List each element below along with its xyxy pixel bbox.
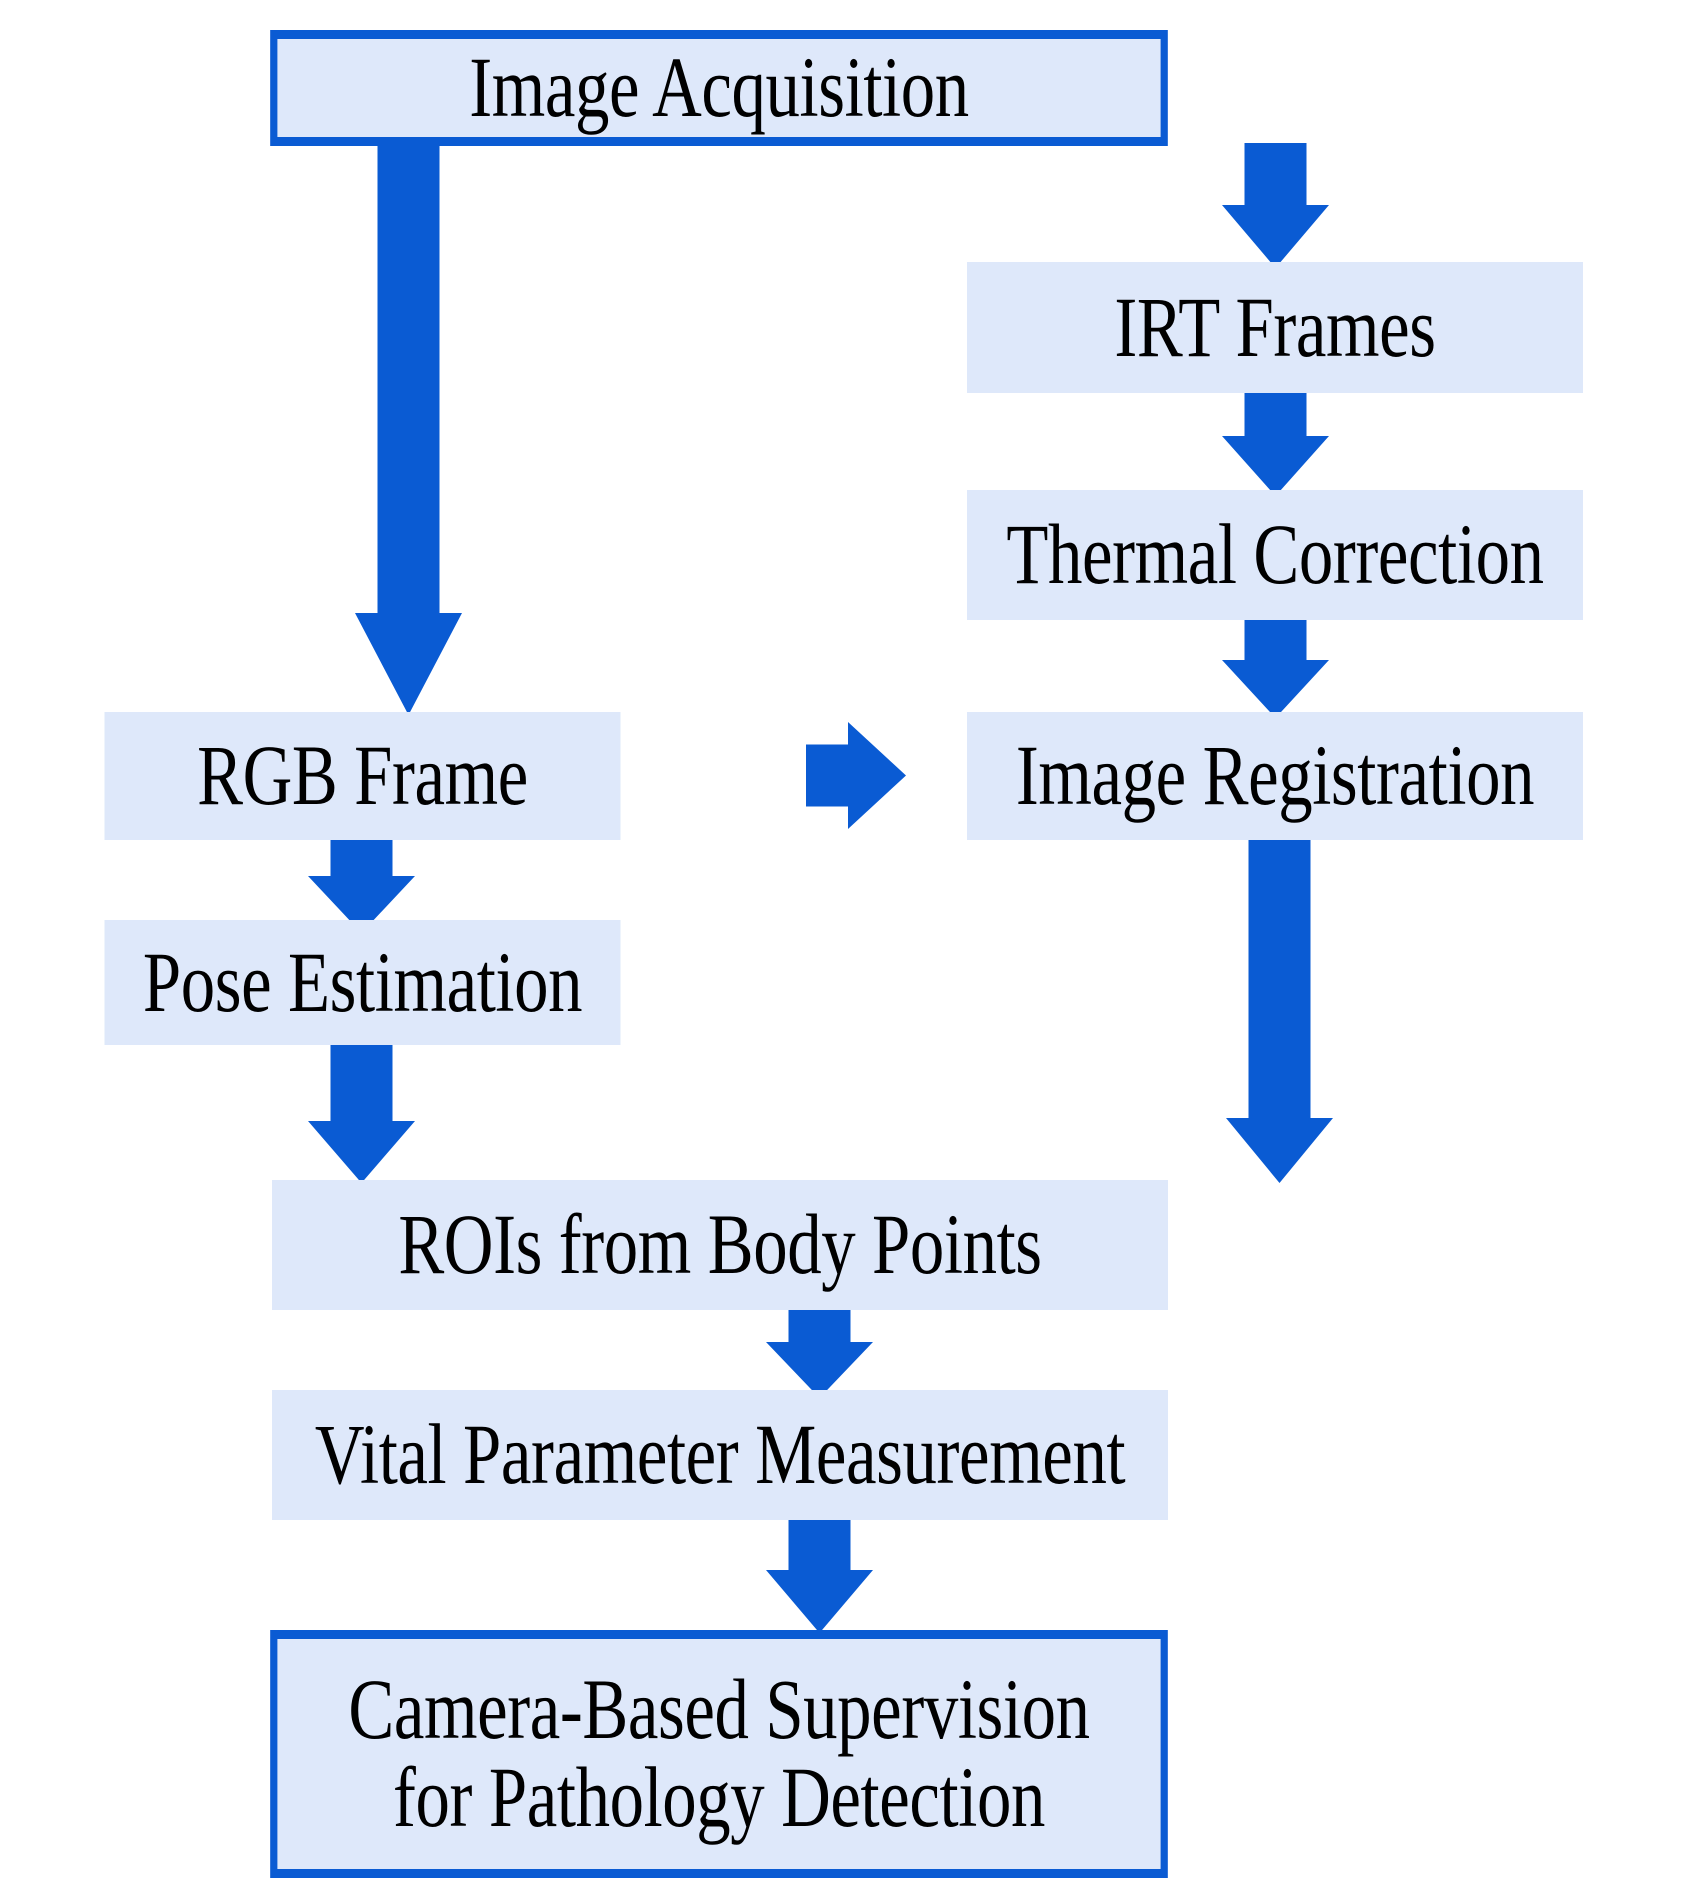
arrow-acquisition-to-irt-frames <box>1222 143 1329 268</box>
arrow-rois-to-vital-parameter-measurement <box>766 1308 873 1398</box>
node-image-acquisition[interactable]: Image Acquisition <box>270 30 1168 146</box>
node-rgb-frame[interactable]: RGB Frame <box>105 712 621 840</box>
arrow-rgb-frame-to-pose-estimation <box>308 838 415 933</box>
arrow-thermal-correction-to-image-registration <box>1222 618 1329 718</box>
node-camera-based-supervision[interactable]: Camera-Based Supervision for Pathology D… <box>270 1630 1168 1878</box>
arrow-image-registration-to-rois <box>1226 838 1333 1183</box>
node-image-registration[interactable]: Image Registration <box>967 712 1583 840</box>
arrow-rgb-frame-to-image-registration <box>806 722 906 829</box>
node-rgb-frame-label: RGB Frame <box>105 732 621 820</box>
arrow-vital-parameter-measurement-to-camera-supervision <box>766 1518 873 1633</box>
node-thermal-correction-label: Thermal Correction <box>967 511 1583 599</box>
arrow-pose-estimation-to-rois <box>308 1043 415 1183</box>
node-rois-from-body-points-label: ROIs from Body Points <box>272 1201 1168 1289</box>
node-image-acquisition-label: Image Acquisition <box>277 44 1160 132</box>
node-rois-from-body-points[interactable]: ROIs from Body Points <box>272 1180 1168 1310</box>
node-camera-based-supervision-label: Camera-Based Supervision for Pathology D… <box>277 1666 1160 1841</box>
node-irt-frames-label: IRT Frames <box>967 284 1583 372</box>
node-irt-frames[interactable]: IRT Frames <box>967 262 1583 393</box>
arrow-acquisition-to-rgb-frame <box>355 143 462 715</box>
arrow-irt-frames-to-thermal-correction <box>1222 391 1329 496</box>
node-vital-parameter-measurement-label: Vital Parameter Measurement <box>272 1411 1168 1499</box>
flowchart-canvas: Image Acquisition IRT Frames Thermal Cor… <box>0 0 1697 1890</box>
node-vital-parameter-measurement[interactable]: Vital Parameter Measurement <box>272 1390 1168 1520</box>
node-pose-estimation[interactable]: Pose Estimation <box>105 920 621 1045</box>
node-image-registration-label: Image Registration <box>967 732 1583 820</box>
node-thermal-correction[interactable]: Thermal Correction <box>967 490 1583 620</box>
node-pose-estimation-label: Pose Estimation <box>105 939 621 1027</box>
